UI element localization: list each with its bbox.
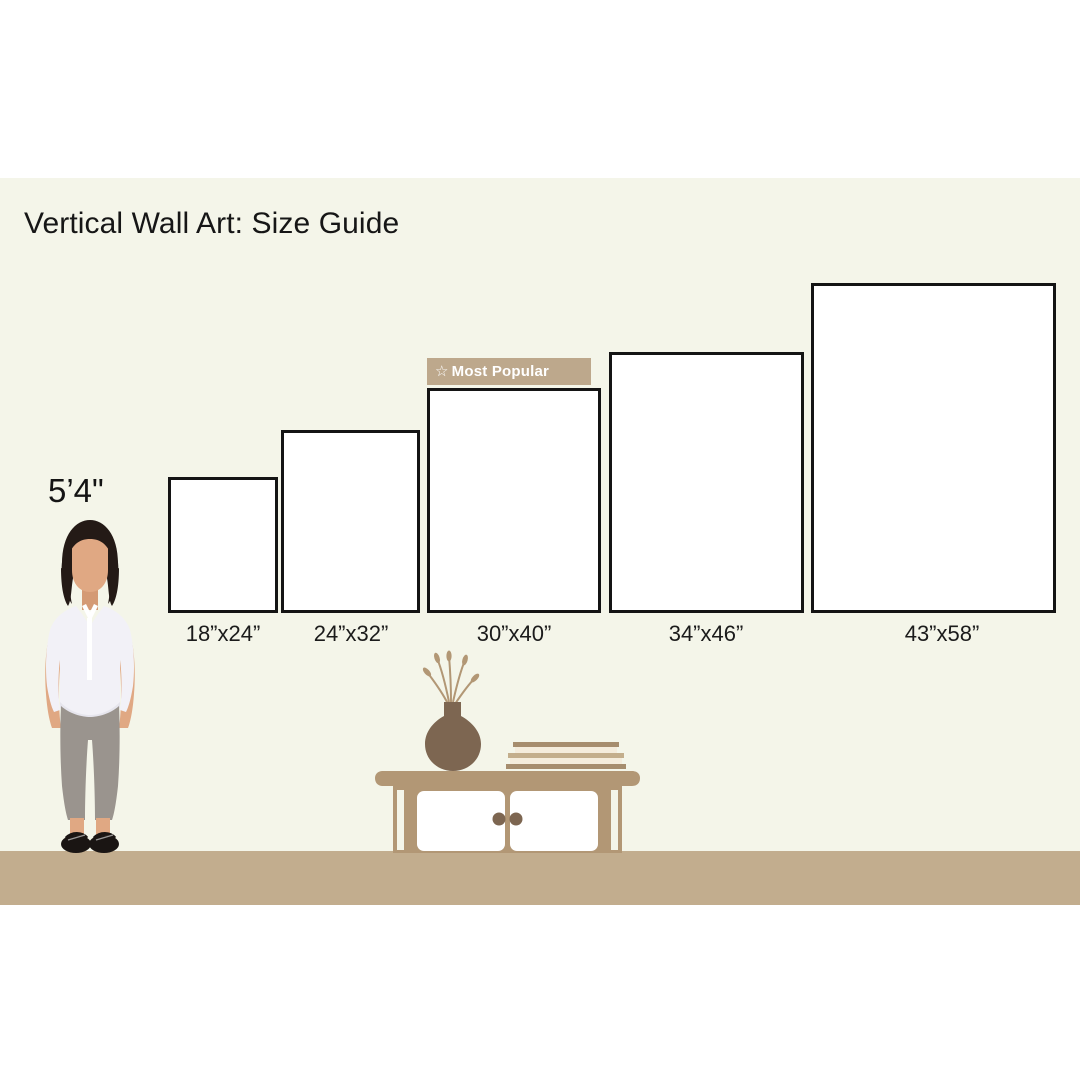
art-frame-30x40[interactable] [427, 388, 601, 613]
art-frame-34x46[interactable] [609, 352, 804, 613]
standing-woman-icon [30, 518, 150, 854]
floor-band [0, 851, 1080, 905]
knob-left-icon [493, 813, 506, 826]
twigs-icon [427, 656, 475, 704]
frame-size-label: 18”x24” [163, 621, 283, 647]
most-popular-label: Most Popular [452, 363, 549, 380]
art-frame-24x32[interactable] [281, 430, 420, 613]
most-popular-badge: ☆Most Popular [427, 358, 591, 385]
cabinet-door-right [510, 791, 598, 851]
art-frame-18x24[interactable] [168, 477, 278, 613]
knob-right-icon [510, 813, 523, 826]
frame-size-label: 43”x58” [882, 621, 1002, 647]
console-table-icon [375, 638, 640, 853]
page-title: Vertical Wall Art: Size Guide [24, 207, 399, 241]
star-icon: ☆ [435, 363, 449, 380]
vase-icon [425, 702, 481, 771]
person-figure [30, 518, 150, 854]
console-table-group [375, 638, 640, 853]
frame-size-label: 34”x46” [646, 621, 766, 647]
cabinet-door-left [417, 791, 505, 851]
person-height-label: 5’4" [48, 472, 104, 510]
art-frame-43x58[interactable] [811, 283, 1056, 613]
books-icon [506, 742, 626, 769]
illustration-scene: Vertical Wall Art: Size Guide 18”x24”24”… [0, 178, 1080, 905]
